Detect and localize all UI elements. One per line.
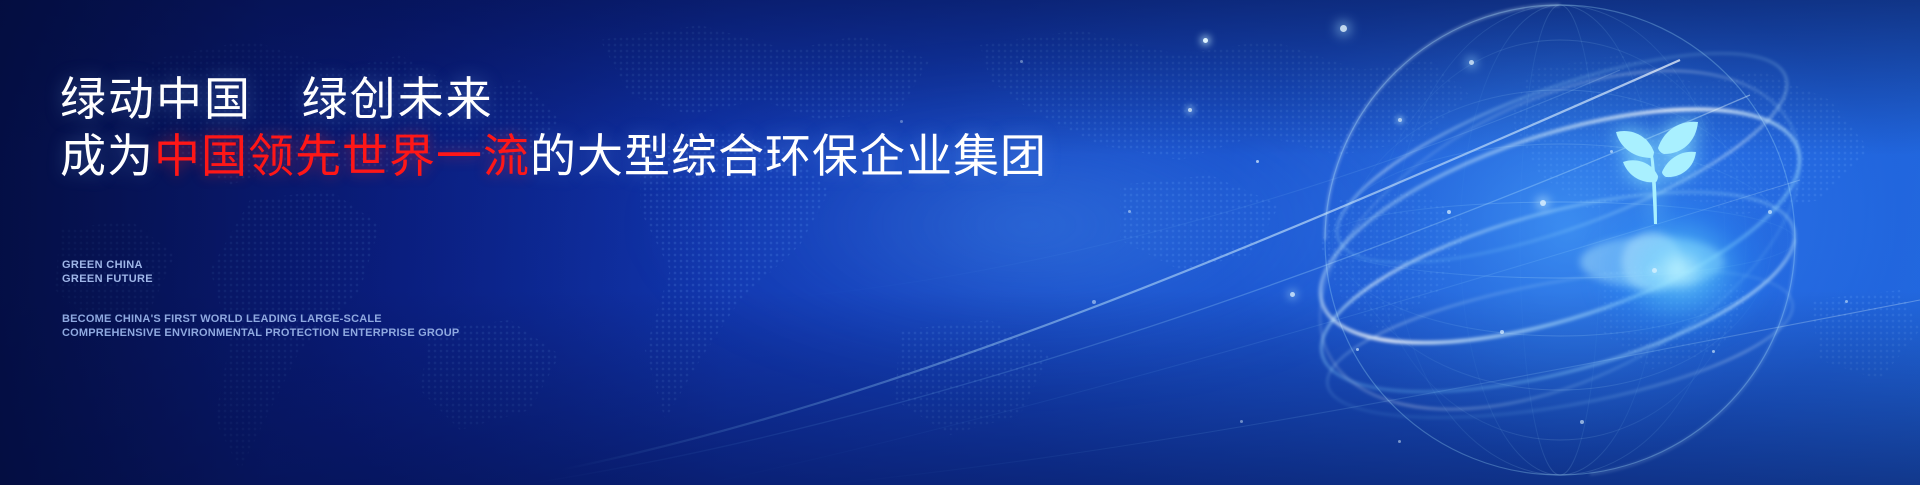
tagline-english-line-2: GREEN FUTURE — [62, 272, 153, 286]
subtitle-english: BECOME CHINA'S FIRST WORLD LEADING LARGE… — [62, 312, 459, 340]
headline-line-2-suffix: 的大型综合环保企业集团 — [530, 130, 1047, 182]
headline-line-2: 成为中国领先世界一流的大型综合环保企业集团 — [60, 133, 1047, 179]
banner-text-block: 绿动中国 绿创未来 成为中国领先世界一流的大型综合环保企业集团 GREEN CH… — [60, 0, 1060, 485]
subtitle-english-line-1: BECOME CHINA'S FIRST WORLD LEADING LARGE… — [62, 312, 459, 326]
subtitle-english-line-2: COMPREHENSIVE ENVIRONMENTAL PROTECTION E… — [62, 326, 459, 340]
headline-line-1-part-b: 绿创未来 — [302, 73, 494, 125]
headline-line-1: 绿动中国 绿创未来 — [60, 76, 494, 122]
headline-line-2-highlight: 中国领先世界一流 — [154, 130, 530, 182]
hero-banner: 绿动中国 绿创未来 成为中国领先世界一流的大型综合环保企业集团 GREEN CH… — [0, 0, 1920, 485]
headline-line-1-part-a: 绿动中国 — [60, 73, 252, 125]
tagline-english-line-1: GREEN CHINA — [62, 258, 153, 272]
tagline-english: GREEN CHINA GREEN FUTURE — [62, 258, 153, 286]
headline-line-2-prefix: 成为 — [60, 130, 154, 182]
